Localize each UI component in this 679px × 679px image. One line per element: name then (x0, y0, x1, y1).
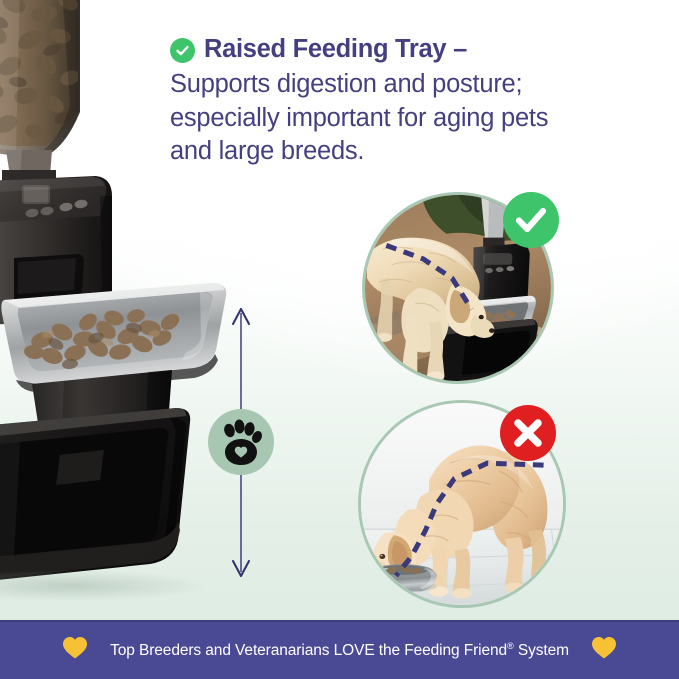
feeder-raised-tray (1, 283, 226, 392)
tray-height-measurement (206, 305, 286, 580)
paw-print-heart-icon (208, 409, 274, 475)
promotional-feature-graphic: Raised Feeding Tray – Supports digestion… (0, 0, 679, 679)
feeder-hopper (0, 0, 82, 156)
feeder-base (0, 370, 190, 584)
banner-text: Top Breeders and Veteranarians LOVE the … (110, 641, 569, 660)
bottom-promo-banner: Top Breeders and Veteranarians LOVE the … (0, 620, 679, 679)
heart-icon-left (62, 636, 88, 665)
floor-food-bowl (367, 564, 437, 592)
heart-icon-right (591, 636, 617, 665)
cross-icon-badge-bad (500, 405, 556, 461)
headline-dash: – (453, 35, 467, 63)
page-title: Raised Feeding Tray – (204, 33, 467, 67)
banner-text-suffix: System (514, 642, 569, 659)
banner-text-main: Top Breeders and Veteranarians LOVE the … (110, 642, 507, 659)
feature-headline-block: Raised Feeding Tray – Supports digestion… (170, 33, 590, 169)
feeder-neck (2, 150, 56, 182)
check-icon-badge-good (503, 192, 559, 248)
headline-title-row: Raised Feeding Tray – (170, 33, 590, 67)
check-circle-icon (170, 38, 195, 63)
headline-title-text: Raised Feeding Tray (204, 35, 446, 63)
headline-body-text: Supports digestion and posture; especial… (170, 68, 590, 170)
